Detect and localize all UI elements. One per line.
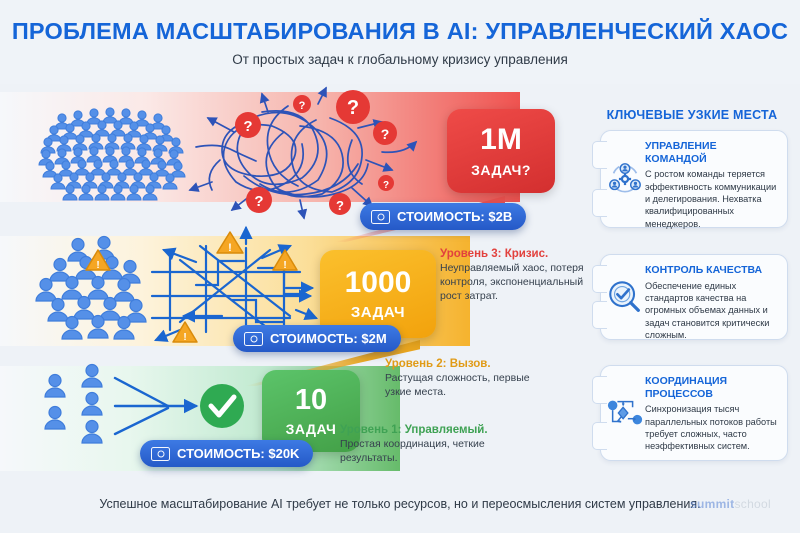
money-icon: [151, 447, 170, 461]
bottleneck-card-team[interactable]: УПРАВЛЕНИЕ КОМАНДОЙ С ростом команды тер…: [600, 130, 788, 228]
card-notch-top: [592, 265, 607, 293]
level-desc-crisis: Уровень 3: Кризис. Неуправляемый хаос, п…: [440, 248, 600, 304]
cost-label: СТОИМОСТЬ: $2B: [397, 209, 512, 224]
result-unit: ЗАДАЧ: [286, 421, 337, 437]
card-notch-top: [592, 141, 607, 169]
cost-label: СТОИМОСТЬ: $2M: [270, 331, 387, 346]
result-unit: ЗАДАЧ: [351, 304, 405, 321]
watermark-primary: summit: [690, 497, 734, 511]
band-crisis: [0, 92, 520, 202]
watermark-secondary: school: [734, 497, 771, 511]
level-desc-challenge: Уровень 2: Вызов. Растущая сложность, пе…: [385, 358, 545, 400]
result-box-crisis: 1M ЗАДАЧ?: [447, 109, 555, 193]
magnifier-check-icon: [606, 278, 644, 316]
level-desc-managed: Уровень 1: Управляемый. Простая координа…: [340, 424, 515, 466]
level-heading: Уровень 1: Управляемый.: [340, 424, 515, 436]
card-title: КООРДИНАЦИЯ ПРОЦЕССОВ: [645, 375, 778, 400]
level-text: Растущая сложность, первые узкие места.: [385, 372, 545, 400]
bottleneck-card-quality[interactable]: КОНТРОЛЬ КАЧЕСТВА Обеспечение единых ста…: [600, 254, 788, 340]
card-body: Синхронизация тысяч параллельных потоков…: [645, 403, 778, 453]
flowchart-icon: [606, 394, 644, 432]
card-title: КОНТРОЛЬ КАЧЕСТВА: [645, 264, 778, 277]
level-text: Неуправляемый хаос, потеря контроля, экс…: [440, 262, 600, 304]
result-unit: ЗАДАЧ?: [471, 162, 531, 178]
card-notch-bottom: [592, 301, 607, 329]
card-body: Обеспечение единых стандартов качества н…: [645, 280, 778, 342]
bottleneck-card-coordination[interactable]: КООРДИНАЦИЯ ПРОЦЕССОВ Синхронизация тыся…: [600, 365, 788, 461]
page-title: ПРОБЛЕМА МАСШТАБИРОВАНИЯ В AI: УПРАВЛЕНЧ…: [0, 18, 800, 45]
cost-badge-challenge: СТОИМОСТЬ: $2M: [233, 325, 401, 352]
level-text: Простая координация, четкие результаты.: [340, 438, 515, 466]
money-icon: [371, 210, 390, 224]
card-notch-top: [592, 376, 607, 404]
footer-text: Успешное масштабирование AI требует не т…: [0, 497, 800, 511]
cost-badge-managed: СТОИМОСТЬ: $20K: [140, 440, 313, 467]
result-value: 1M: [480, 125, 522, 155]
money-icon: [244, 332, 263, 346]
cost-badge-crisis: СТОИМОСТЬ: $2B: [360, 203, 526, 230]
result-value: 10: [295, 386, 327, 415]
result-value: 1000: [345, 268, 412, 298]
page-subtitle: От простых задач к глобальному кризису у…: [0, 52, 800, 67]
card-notch-bottom: [592, 422, 607, 450]
level-heading: Уровень 2: Вызов.: [385, 358, 545, 370]
watermark: summitschool: [690, 497, 771, 511]
team-gear-icon: [606, 160, 644, 198]
card-body: С ростом команды теряется эффективность …: [645, 168, 778, 230]
header: ПРОБЛЕМА МАСШТАБИРОВАНИЯ В AI: УПРАВЛЕНЧ…: [0, 0, 800, 84]
sidebar-title: КЛЮЧЕВЫЕ УЗКИЕ МЕСТА: [592, 108, 792, 122]
card-title: УПРАВЛЕНИЕ КОМАНДОЙ: [645, 140, 778, 165]
cost-label: СТОИМОСТЬ: $20K: [177, 446, 299, 461]
level-heading: Уровень 3: Кризис.: [440, 248, 600, 260]
infographic-canvas: ПРОБЛЕМА МАСШТАБИРОВАНИЯ В AI: УПРАВЛЕНЧ…: [0, 0, 800, 533]
card-notch-bottom: [592, 189, 607, 217]
